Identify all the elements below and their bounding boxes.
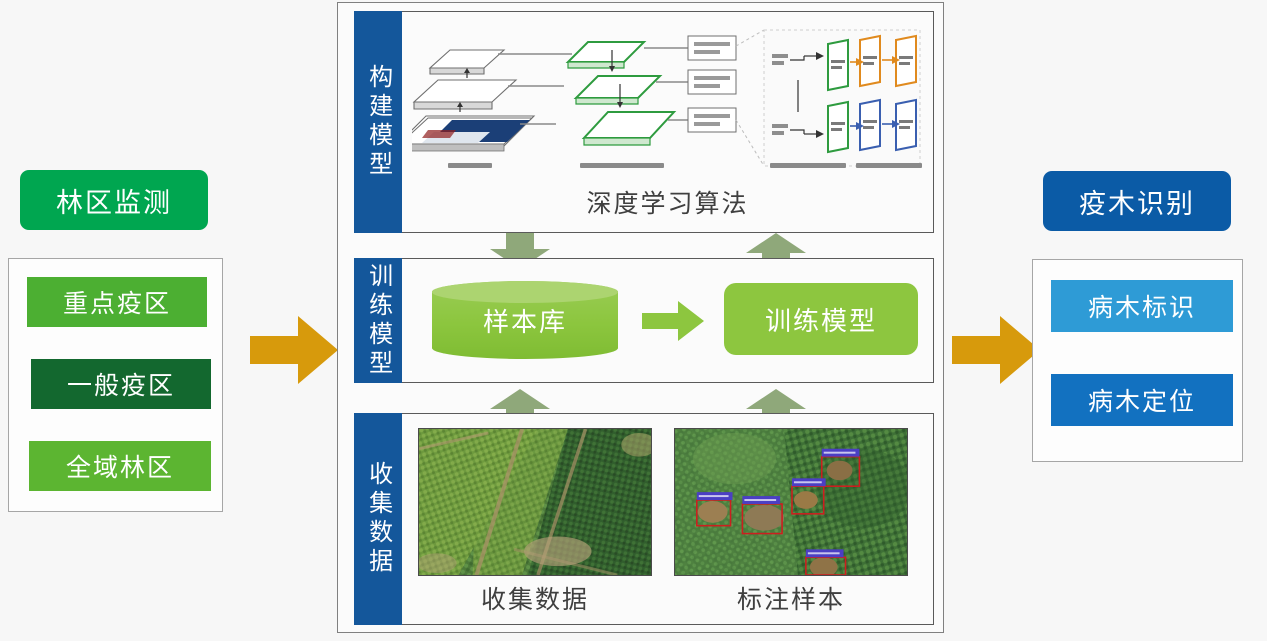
train-model-node[interactable]: 训练模型 bbox=[724, 283, 918, 355]
left-item-general-epidemic-area[interactable]: 一般疫区 bbox=[31, 359, 211, 409]
left-item-label: 全域林区 bbox=[66, 448, 174, 484]
left-header-label: 林区监测 bbox=[56, 181, 172, 220]
stage-tab-label: 构建模型 bbox=[365, 64, 390, 180]
flow-arrow-left-to-center bbox=[250, 312, 338, 388]
stage-tab-build-model[interactable]: 构建模型 bbox=[354, 11, 402, 233]
collect-data-caption-text: 收集数据 bbox=[481, 586, 589, 614]
left-item-label: 一般疫区 bbox=[67, 366, 175, 402]
stage-build-model: 构建模型 bbox=[354, 11, 934, 233]
sample-library-label: 样本库 bbox=[432, 281, 618, 359]
arrow-right-icon bbox=[952, 312, 1040, 388]
right-header-label: 疫木识别 bbox=[1079, 182, 1195, 221]
stage-body-collect-data: 收集数据 bbox=[402, 413, 934, 625]
forest-monitoring-panel: 重点疫区 一般疫区 全域林区 bbox=[8, 258, 223, 512]
build-model-caption: 深度学习算法 bbox=[402, 184, 933, 220]
retinanet-figure-svg bbox=[412, 20, 922, 180]
right-item-disease-location[interactable]: 病木定位 bbox=[1051, 374, 1233, 426]
annotated-forest-image bbox=[675, 429, 907, 575]
flow-arrow-center-to-right bbox=[952, 312, 1040, 388]
left-item-whole-forest-area[interactable]: 全域林区 bbox=[29, 441, 211, 491]
stage-collect-data: 收集数据 bbox=[354, 413, 934, 625]
build-model-caption-text: 深度学习算法 bbox=[586, 190, 748, 218]
stage-tab-label: 训练模型 bbox=[365, 263, 390, 379]
tree-identification-panel: 病木标识 病木定位 bbox=[1032, 259, 1243, 462]
pipeline-container: 构建模型 bbox=[337, 2, 944, 633]
right-item-label: 病木标识 bbox=[1088, 288, 1196, 324]
stage-tab-label: 收集数据 bbox=[365, 461, 390, 577]
collect-data-photo-caption: 收集数据 bbox=[418, 580, 652, 616]
right-item-label: 病木定位 bbox=[1088, 382, 1196, 418]
sample-to-train-arrow bbox=[642, 301, 704, 341]
retinanet-architecture-diagram bbox=[412, 20, 922, 180]
stage-tab-train-model[interactable]: 训练模型 bbox=[354, 258, 402, 383]
aerial-forest-annotated-photo[interactable] bbox=[674, 428, 908, 576]
left-item-key-epidemic-area[interactable]: 重点疫区 bbox=[27, 277, 207, 327]
stage-train-model: 训练模型 样本库 训练模型 bbox=[354, 258, 934, 383]
left-header-button[interactable]: 林区监测 bbox=[20, 170, 208, 230]
right-item-disease-marking[interactable]: 病木标识 bbox=[1051, 280, 1233, 332]
right-header-button[interactable]: 疫木识别 bbox=[1043, 171, 1231, 231]
annotated-sample-photo-caption: 标注样本 bbox=[674, 580, 908, 616]
left-item-label: 重点疫区 bbox=[63, 284, 171, 320]
train-model-node-label: 训练模型 bbox=[765, 301, 877, 338]
aerial-forest-image bbox=[419, 429, 651, 575]
sample-library-cylinder[interactable]: 样本库 bbox=[432, 281, 618, 359]
arrow-right-icon bbox=[250, 312, 338, 388]
aerial-forest-photo[interactable] bbox=[418, 428, 652, 576]
annotated-sample-caption-text: 标注样本 bbox=[737, 586, 845, 614]
stage-tab-collect-data[interactable]: 收集数据 bbox=[354, 413, 402, 625]
stage-body-train-model: 样本库 训练模型 bbox=[402, 258, 934, 383]
stage-body-build-model: 深度学习算法 bbox=[402, 11, 934, 233]
arrow-right-icon bbox=[642, 301, 704, 341]
